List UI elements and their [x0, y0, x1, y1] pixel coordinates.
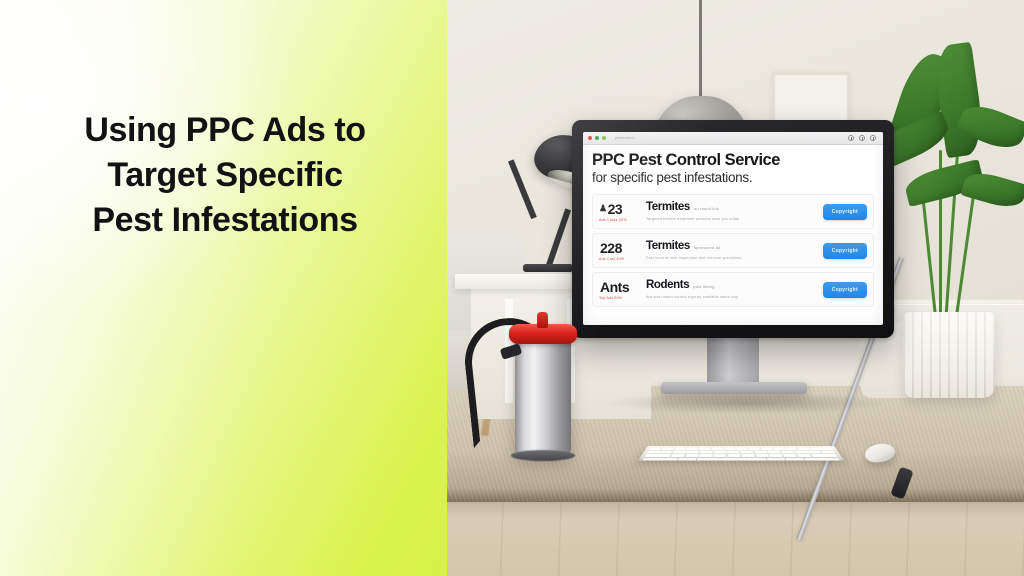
key[interactable]	[768, 451, 781, 454]
headline-line-2: Target Specific	[26, 153, 424, 198]
key[interactable]	[781, 451, 794, 454]
result-cta-button[interactable]: Copyright	[823, 204, 867, 220]
result-title: Rodents	[646, 280, 689, 292]
key[interactable]	[754, 451, 766, 454]
result-title: Termites	[646, 202, 690, 214]
key[interactable]	[773, 448, 784, 450]
result-description: Fast local termite inspection and remova…	[646, 256, 816, 260]
monitor-shadow	[607, 392, 887, 414]
key[interactable]	[711, 448, 722, 450]
key[interactable]	[714, 454, 727, 457]
key[interactable]	[808, 451, 821, 454]
result-title-row: Termites sponsored ad	[646, 241, 816, 253]
sprayer-pump-knob	[537, 312, 548, 328]
list-item[interactable]: Ants Top Ads 50% Rodents paid listing An…	[592, 272, 874, 307]
key[interactable]	[671, 454, 685, 457]
toolbar-circle-icon-1[interactable]	[848, 135, 854, 141]
pendant-cord	[699, 0, 702, 104]
desktop-monitor[interactable]: pestcontrol... PPC Pest Control Service …	[572, 120, 894, 338]
key[interactable]	[810, 448, 833, 450]
key[interactable]	[727, 451, 739, 454]
keyboard-row	[647, 451, 836, 454]
page-content: PPC Pest Control Service for specific pe…	[583, 145, 883, 307]
result-badge: 228 Ads Cost 40%	[599, 241, 639, 261]
sprayer-base	[511, 450, 575, 461]
key[interactable]	[770, 454, 783, 457]
key[interactable]	[685, 454, 698, 457]
key[interactable]	[644, 454, 670, 457]
keyboard[interactable]	[638, 446, 844, 461]
toolbar-circle-icon-3[interactable]	[870, 135, 876, 141]
key[interactable]	[700, 451, 713, 454]
monitor-stand	[661, 382, 807, 394]
key[interactable]	[678, 458, 696, 461]
list-item[interactable]: 228 Ads Cost 40% Termites sponsored ad F…	[592, 233, 874, 268]
key[interactable]	[811, 454, 837, 457]
result-cta-button[interactable]: Copyright	[823, 282, 867, 298]
headline-line-1: Using PPC Ads to	[26, 108, 424, 153]
browser-chrome: pestcontrol...	[583, 132, 883, 145]
spacebar[interactable]	[697, 458, 766, 461]
key[interactable]	[749, 448, 760, 450]
key[interactable]	[761, 448, 772, 450]
key[interactable]	[804, 458, 840, 461]
maximize-icon[interactable]	[602, 136, 606, 140]
left-gradient-panel: Using PPC Ads to Target Specific Pest In…	[0, 0, 450, 576]
monitor-screen[interactable]: pestcontrol... PPC Pest Control Service …	[583, 132, 883, 325]
result-title-row: Rodents paid listing	[646, 280, 816, 292]
page-headline: PPC Pest Control Service	[592, 152, 874, 169]
result-description: Ant and rodent control experts available…	[646, 295, 816, 299]
result-body: Termites ad result link Targeted termite…	[646, 202, 816, 221]
key[interactable]	[783, 454, 796, 457]
headline-line-3: Pest Infestations	[26, 198, 424, 243]
key[interactable]	[797, 454, 811, 457]
key[interactable]	[686, 451, 699, 454]
key[interactable]	[642, 458, 678, 461]
minimize-icon[interactable]	[595, 136, 599, 140]
badge-subtext: Ads Cost 40%	[599, 257, 639, 261]
result-body: Rodents paid listing Ant and rodent cont…	[646, 280, 816, 299]
badge-number-wrap: ♟ 23	[599, 202, 639, 216]
page-subheadline: for specific pest infestations.	[592, 171, 874, 186]
key[interactable]	[649, 448, 661, 450]
office-photo: pestcontrol... PPC Pest Control Service …	[447, 0, 1024, 576]
keyboard-row	[649, 448, 833, 450]
badge-subtext: Top Ads 50%	[599, 296, 639, 300]
keyboard-row	[644, 454, 837, 457]
key[interactable]	[686, 448, 698, 450]
desk-lamp-base	[523, 264, 573, 272]
key[interactable]	[728, 454, 741, 457]
slide-canvas: Using PPC Ads to Target Specific Pest In…	[0, 0, 1024, 576]
key[interactable]	[724, 448, 735, 450]
result-meta: ad result link	[694, 207, 719, 211]
badge-count: 23	[608, 202, 623, 216]
key[interactable]	[798, 448, 810, 450]
result-badge: Ants Top Ads 50%	[599, 280, 639, 300]
address-bar[interactable]: pestcontrol...	[615, 136, 845, 140]
result-meta: paid listing	[693, 285, 714, 289]
toolbar-icons	[848, 135, 876, 141]
result-title: Termites	[646, 241, 690, 253]
key[interactable]	[699, 448, 710, 450]
key[interactable]	[786, 448, 798, 450]
pest-icon: ♟	[599, 204, 607, 213]
key[interactable]	[795, 451, 808, 454]
toolbar-circle-icon-2[interactable]	[859, 135, 865, 141]
badge-count: Ants	[600, 280, 629, 294]
close-icon[interactable]	[588, 136, 592, 140]
result-cta-button[interactable]: Copyright	[823, 243, 867, 259]
badge-number-wrap: Ants	[599, 280, 639, 294]
result-body: Termites sponsored ad Fast local termite…	[646, 241, 816, 260]
page-title: Using PPC Ads to Target Specific Pest In…	[0, 108, 450, 243]
monitor-neck	[707, 338, 759, 384]
key[interactable]	[822, 451, 836, 454]
key[interactable]	[736, 448, 747, 450]
key[interactable]	[647, 451, 672, 454]
list-item[interactable]: ♟ 23 Ads Clicks 20% Termites ad result l…	[592, 194, 874, 229]
key[interactable]	[742, 454, 755, 457]
key[interactable]	[661, 448, 673, 450]
key[interactable]	[767, 458, 785, 461]
key[interactable]	[699, 454, 712, 457]
key[interactable]	[714, 451, 726, 454]
result-title-row: Termites ad result link	[646, 202, 816, 214]
key[interactable]	[674, 448, 686, 450]
plant-pot	[903, 312, 995, 398]
pest-sprayer-canister	[515, 338, 571, 456]
key[interactable]	[673, 451, 686, 454]
badge-count: 228	[600, 241, 622, 255]
result-badge: ♟ 23 Ads Clicks 20%	[599, 202, 639, 222]
keyboard-row	[642, 458, 840, 461]
result-description: Targeted termite treatment services near…	[646, 217, 816, 221]
key[interactable]	[786, 458, 804, 461]
badge-subtext: Ads Clicks 20%	[599, 218, 639, 222]
result-meta: sponsored ad	[694, 246, 721, 250]
badge-number-wrap: 228	[599, 241, 639, 255]
key[interactable]	[756, 454, 769, 457]
ad-results-list: ♟ 23 Ads Clicks 20% Termites ad result l…	[592, 194, 874, 307]
key[interactable]	[741, 451, 753, 454]
